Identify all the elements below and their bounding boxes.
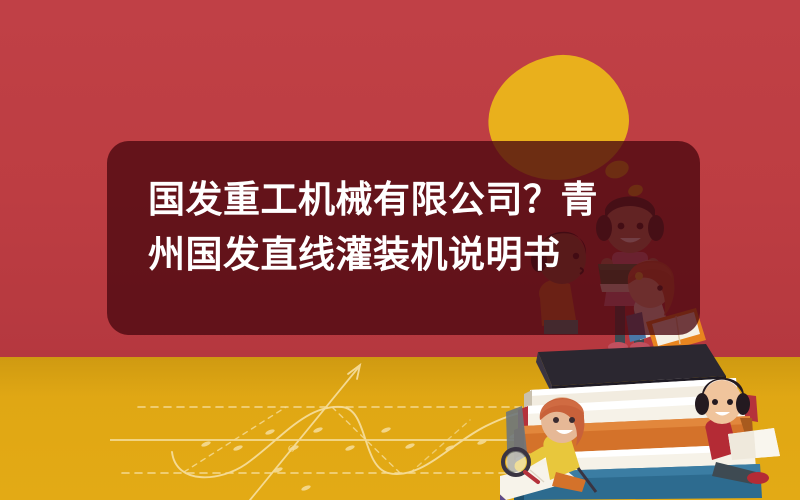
banner-image: O — [0, 0, 800, 500]
page-title-line-1: 国发重工机械有限公司？青 — [148, 178, 598, 221]
page-title: 国发重工机械有限公司？青州国发直线灌装机说明书 — [148, 172, 678, 282]
doodle-origin-label: O — [288, 444, 295, 454]
page-title-line-2: 州国发直线灌装机说明书 — [148, 233, 561, 276]
